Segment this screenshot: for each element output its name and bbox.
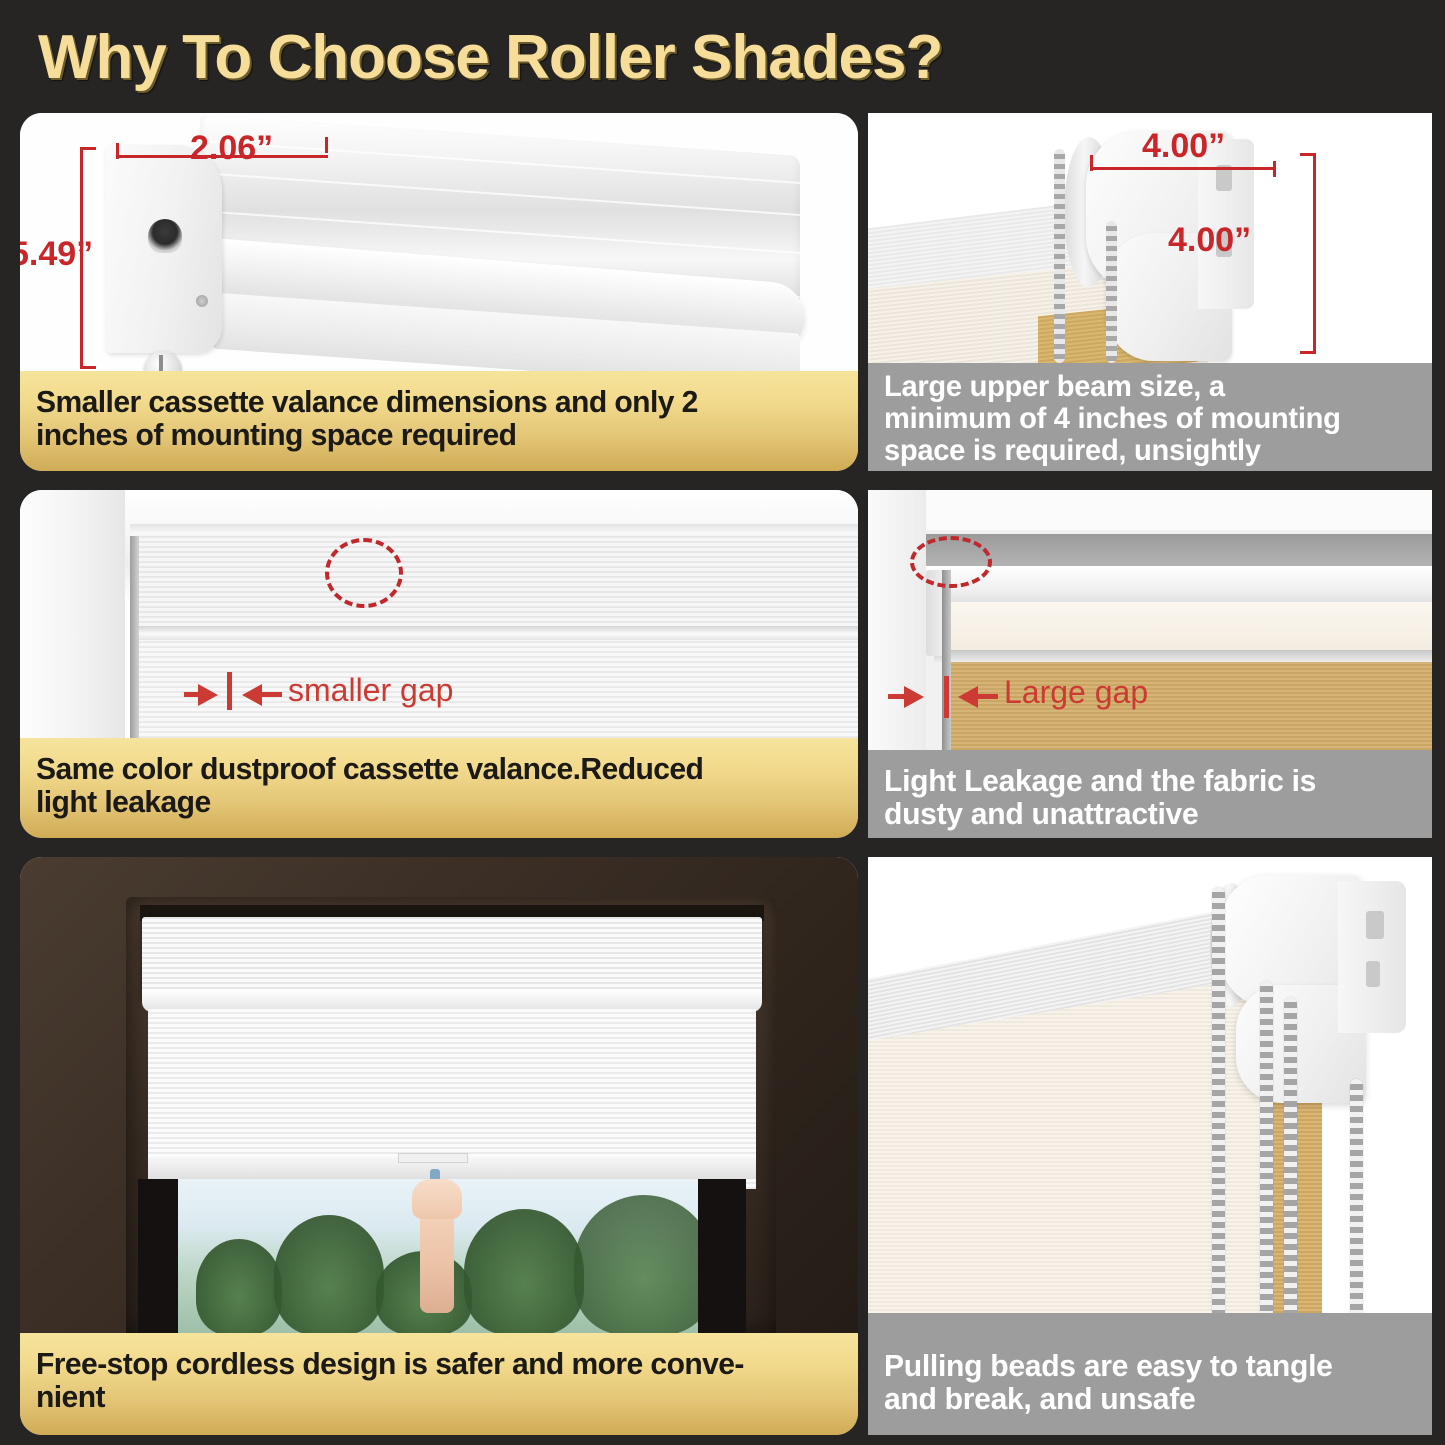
panel-6-caption: Pulling beads are easy to tangle and bre… xyxy=(868,1335,1432,1435)
height-dimension-tick-bottom xyxy=(80,366,96,369)
valance-strip xyxy=(926,566,1432,606)
width-dimension-tick-right xyxy=(325,137,328,153)
window-wall xyxy=(20,490,125,738)
panel-5-caption-text: Free-stop cordless design is safer and m… xyxy=(36,1347,820,1413)
beam-width-dimension-line xyxy=(1090,167,1276,170)
gap-arrow-right xyxy=(242,684,262,706)
panel-4-caption: Light Leakage and the fabric is dusty an… xyxy=(868,750,1432,838)
gap-arrow-right-stem xyxy=(260,692,282,697)
bead-mounting-hole-1 xyxy=(1366,911,1384,939)
tree-1 xyxy=(196,1239,282,1335)
hand-fingers xyxy=(412,1179,462,1219)
window-jamb-right xyxy=(698,1179,746,1335)
beam-height-label: 4.00” xyxy=(1168,221,1251,260)
panel-4-caption-text: Light Leakage and the fabric is dusty an… xyxy=(884,764,1402,830)
tree-5 xyxy=(574,1195,698,1335)
casing-edge xyxy=(130,524,858,534)
height-dimension-tick-top xyxy=(80,147,96,150)
panel-large-beam: 4.00” 4.00” Large upper beam size, a min… xyxy=(868,113,1432,471)
panel-3-caption-text: Same color dustproof cassette valance.Re… xyxy=(36,752,820,818)
panel-large-gap: Large gap Light Leakage and the fabric i… xyxy=(868,490,1432,838)
shade-side-edge xyxy=(130,536,139,738)
height-dimension-label: 5.49” xyxy=(20,235,93,274)
upper-wall xyxy=(868,490,1432,530)
panel-3-caption: Same color dustproof cassette valance.Re… xyxy=(20,738,858,838)
panel-6-caption-text: Pulling beads are easy to tangle and bre… xyxy=(884,1349,1402,1415)
bead-chain-1 xyxy=(1212,887,1225,1327)
beam-shadow xyxy=(926,534,1432,570)
gap-marker-bar xyxy=(227,672,232,710)
end-cap-screw xyxy=(196,295,208,307)
beam-width-tick-right xyxy=(1273,161,1276,177)
bead-mounting-hole-2 xyxy=(1366,961,1380,987)
panel-cordless-design: Free-stop cordless design is safer and m… xyxy=(20,857,858,1435)
panel-5-caption: Free-stop cordless design is safer and m… xyxy=(20,1333,858,1435)
infographic-page: Why To Choose Roller Shades? xyxy=(0,0,1445,1445)
tree-2 xyxy=(274,1215,384,1335)
panel-pulling-beads: Pulling beads are easy to tangle and bre… xyxy=(868,857,1432,1435)
cassette-valance xyxy=(142,917,762,999)
panel-1-caption: Smaller cassette valance dimensions and … xyxy=(20,371,858,471)
panel-1-caption-text: Smaller cassette valance dimensions and … xyxy=(36,385,820,451)
panel-2-caption: Large upper beam size, a minimum of 4 in… xyxy=(868,363,1432,471)
left-wall xyxy=(868,490,926,750)
beam-width-label: 4.00” xyxy=(1142,127,1225,166)
bead-chain-4 xyxy=(1350,1079,1363,1327)
panel-grid: 2.06” 5.49” Smaller cassette valance dim… xyxy=(0,0,1445,1445)
large-gap-arrow-left-stem xyxy=(888,694,908,699)
gap-arrow-left-stem xyxy=(184,692,202,697)
large-gap-label: Large gap xyxy=(1004,674,1148,711)
brand-tab xyxy=(398,1153,468,1163)
bead-chain-right xyxy=(1106,221,1117,363)
tree-4 xyxy=(464,1209,584,1335)
smaller-gap-label: smaller gap xyxy=(288,672,453,709)
end-cap-slot xyxy=(148,219,182,253)
panel-smaller-cassette: 2.06” 5.49” Smaller cassette valance dim… xyxy=(20,113,858,471)
beam-height-dimension-line xyxy=(1313,153,1316,353)
valance-strip-lower xyxy=(934,602,1432,652)
panel-2-caption-text: Large upper beam size, a minimum of 4 in… xyxy=(884,371,1402,467)
highlight-circle-bracket xyxy=(910,536,992,588)
highlight-circle xyxy=(325,538,403,608)
bead-chain-left xyxy=(1054,149,1065,363)
bead-mounting-plate xyxy=(1338,881,1406,1033)
beam-width-tick-left xyxy=(1090,155,1093,171)
width-dimension-tick-left xyxy=(116,143,119,159)
bead-chain-2 xyxy=(1260,981,1273,1327)
lower-rail xyxy=(934,650,1432,662)
photo-footer-strip xyxy=(868,1313,1432,1335)
shade-rail xyxy=(136,626,858,640)
large-gap-arrow-right-stem xyxy=(976,694,998,699)
panel-smaller-gap: smaller gap Same color dustproof cassett… xyxy=(20,490,858,838)
beam-height-tick-bottom xyxy=(1300,351,1316,354)
fabric-side-edge xyxy=(942,570,951,750)
large-gap-marker-bar xyxy=(944,676,949,718)
large-gap-arrow-right xyxy=(958,686,978,708)
beam-height-tick-top xyxy=(1300,153,1316,156)
width-dimension-label: 2.06” xyxy=(190,129,273,168)
bead-chain-3 xyxy=(1284,997,1297,1327)
shade-upper xyxy=(138,536,858,628)
window-jamb-left xyxy=(138,1179,178,1335)
